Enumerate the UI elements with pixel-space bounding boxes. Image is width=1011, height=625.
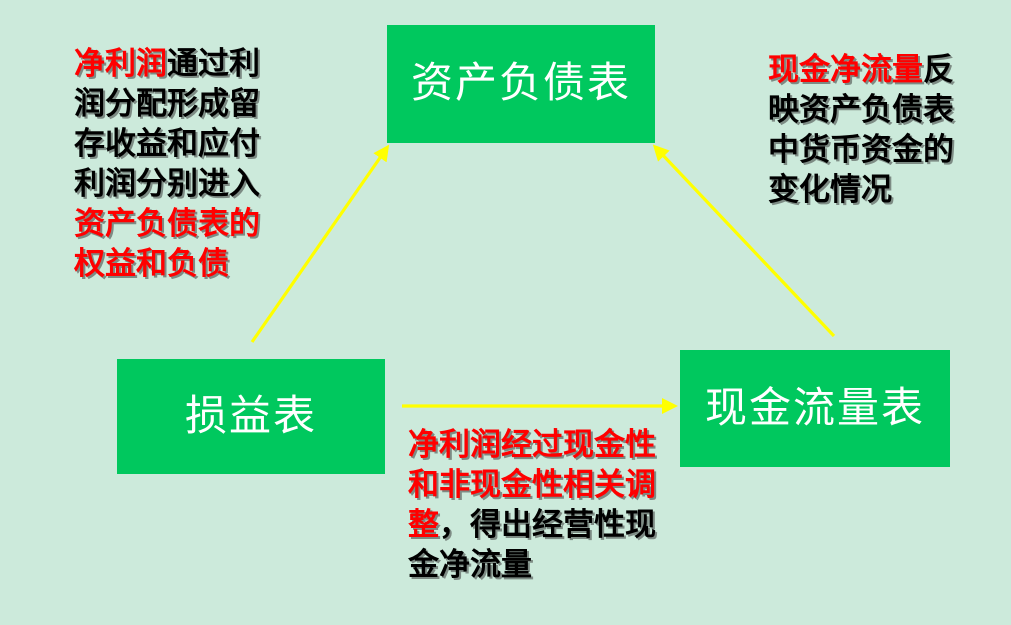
box-cash-flow-statement[interactable]: 现金流量表: [680, 350, 950, 467]
note-segment-2: 资产负债表的权益和负债: [74, 206, 260, 281]
note-segment-0: 现金净流量: [768, 52, 923, 87]
note-segment-1: ，得出经营性现金净流量: [408, 507, 656, 582]
box-income-statement-label: 损益表: [185, 396, 317, 438]
diagram-canvas: 资产负债表 损益表 现金流量表 净利润通过利润分配形成留存收益和应付利润分别进入…: [0, 0, 1011, 625]
note-income-to-balance: 净利润通过利润分配形成留存收益和应付利润分别进入资产负债表的权益和负债: [74, 44, 290, 284]
note-income-to-cashflow: 净利润经过现金性和非现金性相关调整，得出经营性现金净流量: [408, 425, 658, 585]
box-balance-sheet-label: 资产负债表: [411, 63, 631, 105]
note-cashflow-to-balance: 现金净流量反映资产负债表中货币资金的变化情况: [768, 50, 958, 210]
box-balance-sheet[interactable]: 资产负债表: [387, 25, 655, 143]
note-segment-0: 净利润: [74, 46, 167, 81]
box-cash-flow-statement-label: 现金流量表: [705, 388, 925, 430]
box-income-statement[interactable]: 损益表: [117, 359, 385, 474]
